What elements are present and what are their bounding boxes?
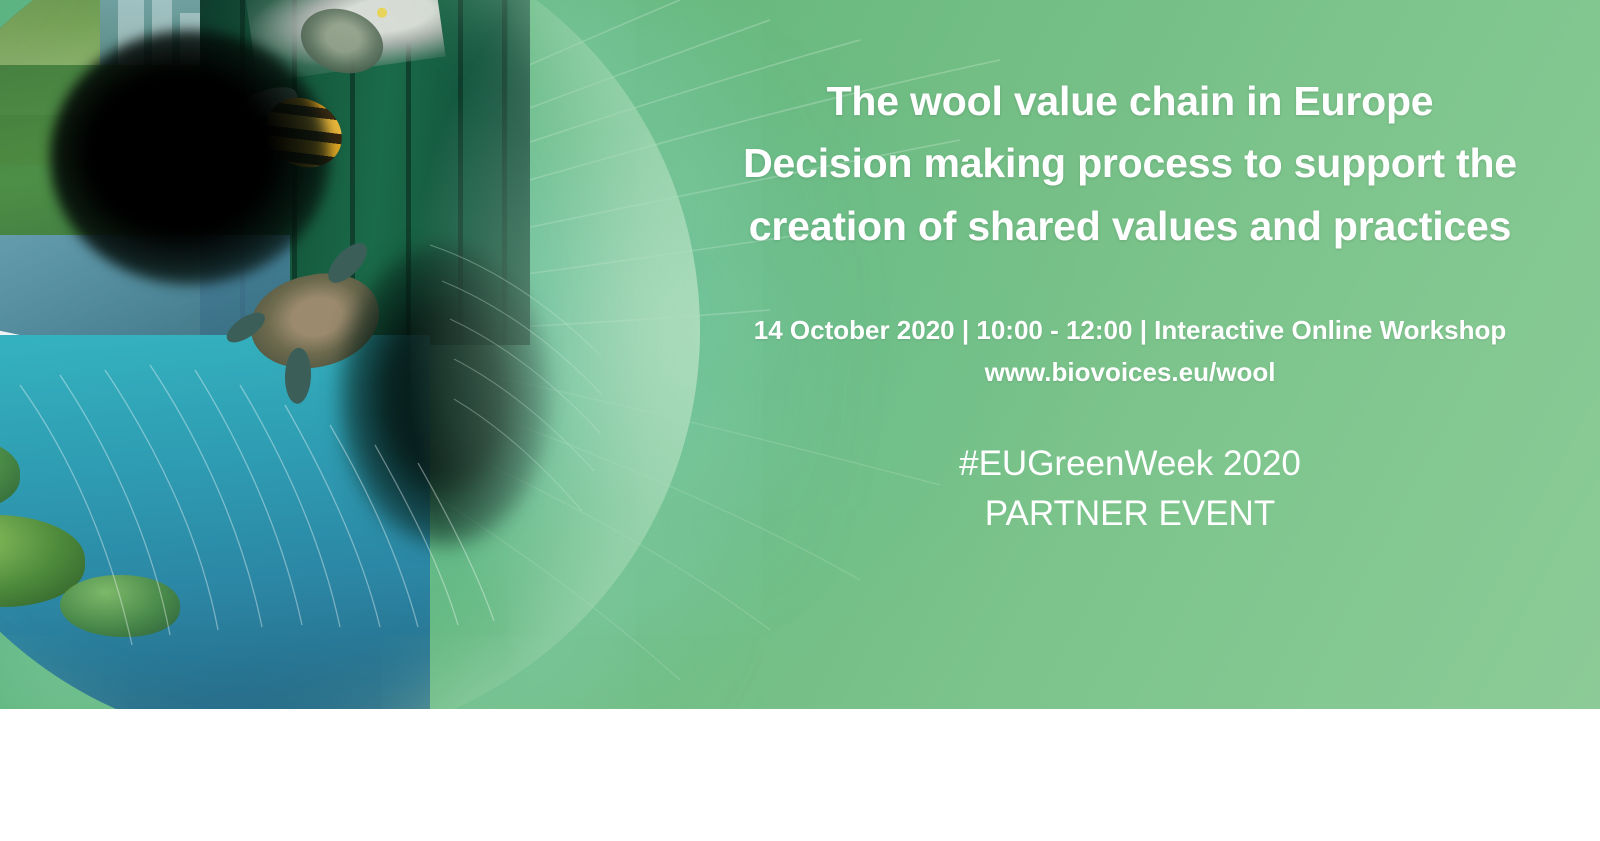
dark-vignette bbox=[340, 245, 550, 545]
bee-wing bbox=[235, 81, 300, 124]
partner-logo-bar: biobridges FOR THE MARKETABILITY OF SUST… bbox=[0, 709, 1600, 841]
photo-walkers bbox=[0, 0, 300, 115]
title-line-1: The wool value chain in Europe bbox=[827, 78, 1434, 124]
hero-text-column: The wool value chain in Europe Decision … bbox=[700, 70, 1560, 539]
photo-greenery bbox=[0, 65, 300, 395]
island bbox=[60, 575, 180, 637]
page-title: The wool value chain in Europe Decision … bbox=[700, 70, 1560, 257]
photo-city bbox=[100, 0, 400, 165]
sea-turtle bbox=[292, 0, 391, 83]
photo-forest bbox=[200, 0, 530, 345]
photo-ocean bbox=[0, 335, 430, 709]
partner-event-label: PARTNER EVENT bbox=[700, 489, 1560, 539]
title-line-3: creation of shared values and practices bbox=[749, 203, 1511, 249]
photo-orchard-shadow bbox=[0, 0, 170, 115]
island bbox=[0, 435, 20, 513]
sea-turtle bbox=[242, 262, 388, 379]
hero-section: The wool value chain in Europe Decision … bbox=[0, 0, 1600, 709]
train-vehicle bbox=[0, 311, 231, 419]
event-url[interactable]: www.biovoices.eu/wool bbox=[700, 351, 1560, 393]
event-banner: The wool value chain in Europe Decision … bbox=[0, 0, 1600, 841]
sphere-glow-edge bbox=[410, 0, 700, 709]
bee-insect bbox=[255, 88, 352, 178]
event-tagline: #EUGreenWeek 2020 PARTNER EVENT bbox=[700, 439, 1560, 538]
island bbox=[0, 515, 85, 607]
photo-orchard bbox=[0, 0, 290, 165]
photo-rail bbox=[0, 235, 290, 515]
hashtag-label: #EUGreenWeek 2020 bbox=[959, 444, 1301, 483]
event-datetime-format: 14 October 2020 | 10:00 - 12:00 | Intera… bbox=[754, 315, 1506, 345]
title-line-2: Decision making process to support the bbox=[743, 140, 1517, 186]
dark-vignette bbox=[50, 30, 330, 285]
event-details: 14 October 2020 | 10:00 - 12:00 | Intera… bbox=[700, 309, 1560, 393]
owl-bird bbox=[244, 0, 445, 83]
water-spray bbox=[0, 0, 700, 709]
collage-sphere bbox=[0, 0, 700, 709]
